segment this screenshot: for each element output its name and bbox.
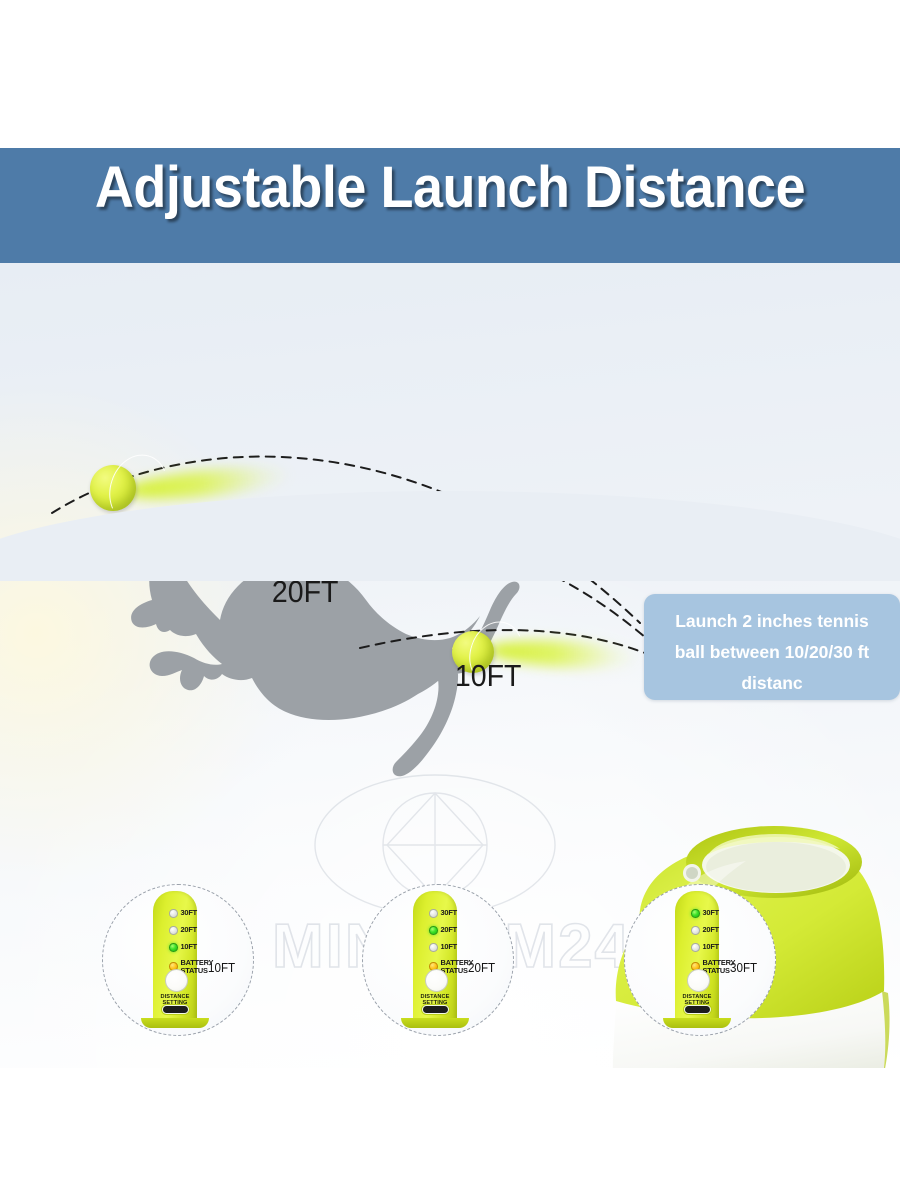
callout-box: Launch 2 inches tennis ball between 10/2… <box>644 594 900 700</box>
control-panel-30ft: 30FT 20FT 10FT BATTERY STATUS DISTANCE S… <box>675 891 719 1026</box>
usb-port <box>422 1005 449 1014</box>
callout-line-2: ball between 10/20/30 ft <box>660 637 884 668</box>
led-30ft <box>691 909 700 918</box>
led-label-30ft: 30FT <box>441 909 457 917</box>
inset-panel-30ft: 30FT 20FT 10FT BATTERY STATUS DISTANCE S… <box>624 884 776 1036</box>
inset-caption-30ft: 30FT <box>730 961 757 975</box>
led-label-20ft: 20FT <box>441 926 457 934</box>
led-label-30ft: 30FT <box>703 909 719 917</box>
led-label-10ft: 10FT <box>441 943 457 951</box>
led-20ft <box>429 926 438 935</box>
led-20ft <box>691 926 700 935</box>
led-30ft <box>429 909 438 918</box>
callout-line-1: Launch 2 inches tennis <box>660 606 884 637</box>
callout-line-3: distanc <box>660 668 884 699</box>
led-30ft <box>169 909 178 918</box>
inset-panel-10ft: 30FT 20FT 10FT BATTERY STATUS DISTANCE S… <box>102 884 254 1036</box>
panel-base <box>141 1018 209 1028</box>
panel-base <box>401 1018 469 1028</box>
distance-setting-button[interactable] <box>687 969 710 992</box>
led-label-30ft: 30FT <box>181 909 197 917</box>
panel-base <box>663 1018 731 1028</box>
inset-caption-20ft: 20FT <box>468 961 495 975</box>
led-label-10ft: 10FT <box>703 943 719 951</box>
distance-setting-button[interactable] <box>425 969 448 992</box>
control-panel-10ft: 30FT 20FT 10FT BATTERY STATUS DISTANCE S… <box>153 891 197 1026</box>
tennis-ball-30ft <box>90 465 136 511</box>
led-10ft <box>691 943 700 952</box>
led-label-20ft: 20FT <box>703 926 719 934</box>
inset-panel-20ft: 30FT 20FT 10FT BATTERY STATUS DISTANCE S… <box>362 884 514 1036</box>
distance-setting-button[interactable] <box>165 969 188 992</box>
led-20ft <box>169 926 178 935</box>
led-label-10ft: 10FT <box>181 943 197 951</box>
usb-port <box>684 1005 711 1014</box>
distance-label-10ft: 10FT <box>455 658 522 694</box>
usb-port <box>162 1005 189 1014</box>
control-panel-20ft: 30FT 20FT 10FT BATTERY STATUS DISTANCE S… <box>413 891 457 1026</box>
led-10ft <box>429 943 438 952</box>
inset-caption-10ft: 10FT <box>208 961 235 975</box>
led-label-20ft: 20FT <box>181 926 197 934</box>
product-infographic: Adjustable Launch Distance MINICAM24 30F <box>0 0 900 1200</box>
led-10ft <box>169 943 178 952</box>
header-banner: Adjustable Launch Distance <box>0 148 900 263</box>
page-title: Adjustable Launch Distance <box>32 154 869 221</box>
